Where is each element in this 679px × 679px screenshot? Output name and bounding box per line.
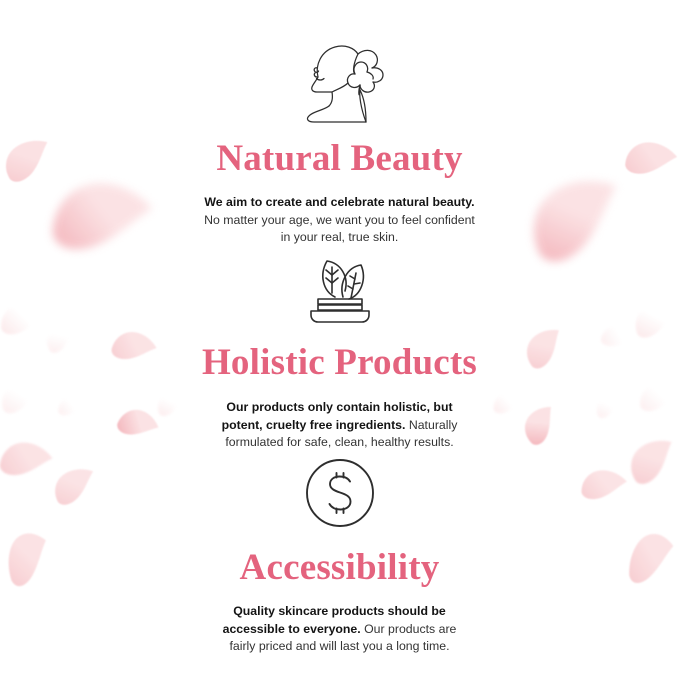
woman-profile-line-art-icon (0, 32, 679, 124)
section-natural-beauty: Natural Beauty We aim to create and cele… (0, 32, 679, 247)
section-heading: Holistic Products (0, 344, 679, 381)
section-holistic-products: Holistic Products Our products only cont… (0, 253, 679, 452)
body-line: fairly priced and will last you a long t… (175, 638, 505, 656)
section-body-text: Quality skincare products should be acce… (175, 603, 505, 656)
body-line: in your real, true skin. (175, 229, 505, 247)
section-body-text: Our products only contain holistic, but … (175, 399, 505, 452)
body-line: potent, cruelty free ingredients. Natura… (175, 417, 505, 435)
section-heading: Accessibility (0, 549, 679, 586)
body-line: Our products only contain holistic, but (175, 399, 505, 417)
section-heading: Natural Beauty (0, 140, 679, 177)
cream-jar-with-leaves-icon (0, 253, 679, 323)
section-accessibility: Accessibility Quality skincare products … (0, 456, 679, 656)
section-body-text: We aim to create and celebrate natural b… (175, 194, 505, 247)
promotional-brand-values-graphic: Natural Beauty We aim to create and cele… (0, 0, 679, 679)
body-line: accessible to everyone. Our products are (175, 621, 505, 639)
body-line: No matter your age, we want you to feel … (175, 212, 505, 230)
body-line: Quality skincare products should be (175, 603, 505, 621)
content-stack: Natural Beauty We aim to create and cele… (0, 0, 679, 679)
dollar-sign-circle-icon (0, 456, 679, 530)
body-line: We aim to create and celebrate natural b… (175, 194, 505, 212)
body-line: formulated for safe, clean, healthy resu… (175, 434, 505, 452)
